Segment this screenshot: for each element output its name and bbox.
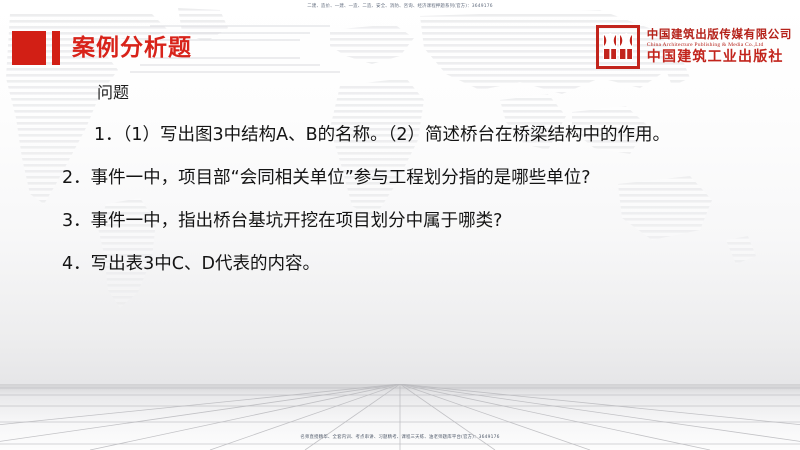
question-item-4: 4．写出表3中C、D代表的内容。 bbox=[62, 247, 738, 281]
publisher-logo: 中国建筑出版传媒有限公司 China Architecture Publishi… bbox=[596, 24, 792, 70]
questions-heading: 问题 bbox=[97, 80, 800, 106]
slide-content: 问题 1．（1）写出图3中结构A、B的名称。（2）简述桥台在桥梁结构中的作用。 … bbox=[0, 80, 800, 290]
question-list: 1．（1）写出图3中结构A、B的名称。（2）简述桥台在桥梁结构中的作用。 2．事… bbox=[0, 118, 800, 282]
publisher-company-en: China Architecture Publishing & Media Co… bbox=[647, 41, 792, 49]
publisher-book-logo-icon bbox=[596, 25, 640, 69]
perspective-floor bbox=[0, 384, 800, 450]
publisher-company-cn: 中国建筑出版传媒有限公司 bbox=[647, 28, 792, 41]
title-bar-marker bbox=[52, 31, 60, 65]
bottom-banner-note: 名师直授精华、全套内训、考点串讲、习题精考、课程三天练、油老师题库平台(官方)：… bbox=[0, 434, 800, 440]
question-item-1: 1．（1）写出图3中结构A、B的名称。（2）简述桥台在桥梁结构中的作用。 bbox=[62, 118, 738, 152]
publisher-logo-text: 中国建筑出版传媒有限公司 China Architecture Publishi… bbox=[647, 28, 792, 65]
publisher-press-cn: 中国建筑工业出版社 bbox=[647, 50, 792, 66]
question-item-2: 2．事件一中，项目部“会同相关单位”参与工程划分指的是哪些单位? bbox=[62, 161, 738, 195]
slide-title-block: 案例分析题 bbox=[12, 27, 192, 69]
slide-canvas: 二建、造价、一建、一造、二造、安全、消防、咨询、经济课程押题系列(官方)：364… bbox=[0, 0, 800, 450]
top-banner-note: 二建、造价、一建、一造、二造、安全、消防、咨询、经济课程押题系列(官方)：364… bbox=[0, 3, 800, 9]
page-title: 案例分析题 bbox=[72, 37, 192, 60]
question-item-3: 3．事件一中，指出桥台基坑开挖在项目划分中属于哪类? bbox=[62, 204, 738, 238]
title-square-marker bbox=[12, 31, 46, 65]
